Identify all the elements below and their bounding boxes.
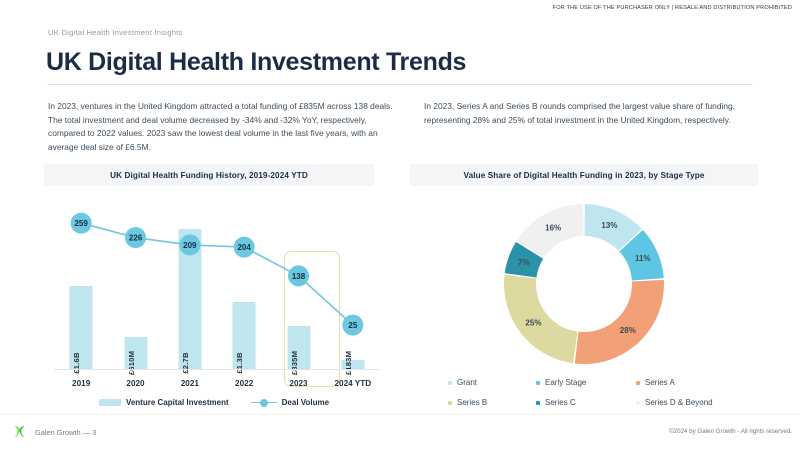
line-swatch-icon: [251, 399, 277, 407]
legend-item[interactable]: Series C: [536, 398, 636, 407]
deal-volume-label: 259: [74, 219, 88, 228]
donut-segment-label: 11%: [635, 254, 651, 263]
x-axis-tick-label: 2023: [271, 379, 327, 388]
legend-item-label: Series D & Beyond: [645, 398, 713, 407]
donut-segment[interactable]: [575, 280, 664, 364]
legend-item[interactable]: Series A: [636, 378, 748, 387]
legend-item-label: Venture Capital Investment: [126, 398, 229, 407]
footer-divider: [0, 414, 800, 415]
donut-segment-label: 25%: [525, 319, 541, 328]
bar-swatch-icon: [99, 399, 121, 406]
deal-volume-label: 226: [129, 234, 143, 243]
chart-left-legend: Venture Capital InvestmentDeal Volume: [44, 398, 384, 407]
eyebrow-label: UK Digital Health Investment Insights: [48, 28, 183, 37]
legend-item-label: Grant: [457, 378, 477, 387]
x-axis-tick-label: 2020: [108, 379, 164, 388]
x-axis-tick-label: 2019: [53, 379, 109, 388]
x-axis-tick-label: 2022: [216, 379, 272, 388]
legend-item[interactable]: Series D & Beyond: [636, 398, 748, 407]
deal-volume-label: 209: [183, 241, 197, 250]
donut-segment-label: 28%: [620, 326, 636, 335]
legend-item[interactable]: Early Stage: [536, 378, 636, 387]
funding-history-chart: £1.6B£610M£2.7B£1.3B£835M£183M 259226209…: [44, 196, 384, 396]
legend-item[interactable]: Venture Capital Investment: [99, 398, 229, 407]
legend-item-label: Deal Volume: [282, 398, 329, 407]
legend-item[interactable]: Grant: [448, 378, 536, 387]
page-title: UK Digital Health Investment Trends: [46, 48, 466, 77]
legend-color-swatch-icon: [536, 401, 540, 405]
deal-volume-point: 226: [125, 227, 146, 248]
deal-volume-line-layer: 25922620920413825: [44, 196, 384, 396]
deal-volume-label: 138: [292, 272, 306, 281]
legend-item-label: Series B: [457, 398, 487, 407]
legend-item-label: Early Stage: [545, 378, 586, 387]
deal-volume-label: 204: [237, 243, 251, 252]
slide: FOR THE USE OF THE PURCHASER ONLY | RESA…: [0, 0, 800, 450]
purchaser-disclaimer: FOR THE USE OF THE PURCHASER ONLY | RESA…: [553, 5, 792, 11]
legend-color-swatch-icon: [536, 381, 540, 385]
donut-segment-label: 7%: [518, 258, 530, 267]
footer-copyright: ©2024 by Galen Growth - All rights reser…: [669, 428, 792, 435]
deal-volume-point: 25: [342, 315, 363, 336]
footer-brand-label: Galen Growth — 3: [35, 428, 96, 437]
x-axis-tick-label: 2024 YTD: [325, 379, 381, 388]
galen-growth-logo-icon: [12, 424, 27, 441]
footer-brand: Galen Growth — 3: [12, 424, 96, 441]
legend-color-swatch-icon: [448, 401, 452, 405]
deal-volume-point: 204: [234, 237, 255, 258]
intro-paragraph-left: In 2023, ventures in the United Kingdom …: [48, 100, 398, 154]
deal-volume-line: [81, 223, 353, 325]
donut-segment-label: 16%: [545, 223, 561, 232]
legend-item[interactable]: Deal Volume: [251, 398, 329, 407]
legend-color-swatch-icon: [636, 401, 640, 405]
chart-right-legend: GrantEarly StageSeries ASeries BSeries C…: [448, 378, 748, 407]
chart-right-header: Value Share of Digital Health Funding in…: [410, 164, 758, 186]
legend-color-swatch-icon: [636, 381, 640, 385]
legend-color-swatch-icon: [448, 381, 452, 385]
deal-volume-label: 25: [348, 321, 357, 330]
donut-segment-label: 13%: [601, 221, 617, 230]
legend-item-label: Series C: [545, 398, 576, 407]
x-axis-tick-label: 2021: [162, 379, 218, 388]
deal-volume-point: 209: [179, 234, 200, 255]
legend-item-label: Series A: [645, 378, 675, 387]
stage-share-donut-chart: 13%11%28%25%7%16%: [410, 192, 758, 376]
donut-svg: 13%11%28%25%7%16%: [492, 192, 676, 376]
deal-volume-point: 138: [288, 265, 309, 286]
intro-paragraph-right: In 2023, Series A and Series B rounds co…: [424, 100, 766, 127]
title-divider: [47, 84, 753, 85]
chart-left-header: UK Digital Health Funding History, 2019-…: [44, 164, 374, 186]
deal-volume-point: 259: [71, 213, 92, 234]
legend-item[interactable]: Series B: [448, 398, 536, 407]
